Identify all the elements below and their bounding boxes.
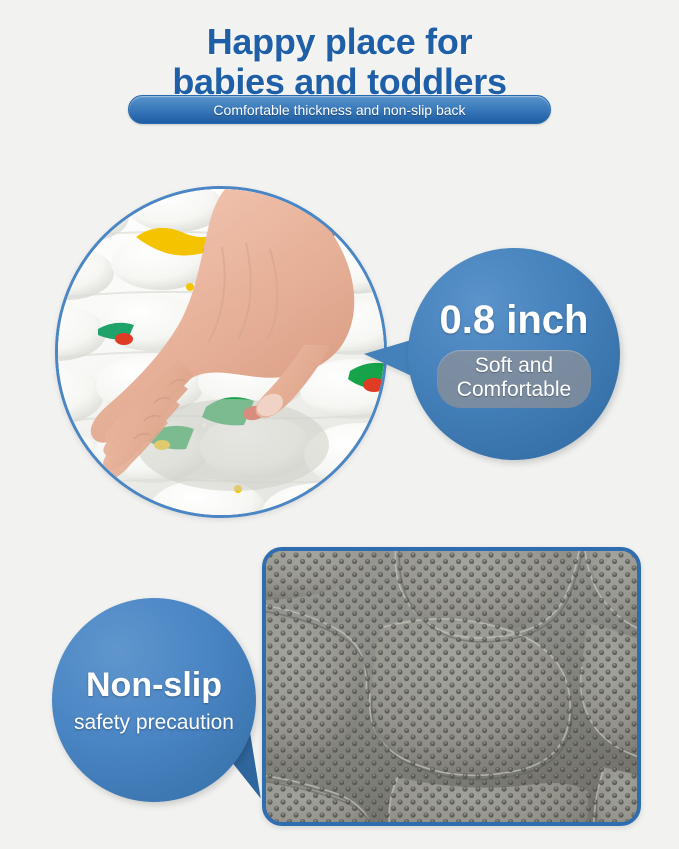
nonslip-callout-content: Non-slip safety precaution	[52, 598, 256, 802]
hand-pressing-quilted-mattress-photo	[55, 186, 387, 518]
thickness-callout: 0.8 inch Soft and Comfortable	[360, 248, 620, 498]
nonslip-title: Non-slip	[86, 668, 222, 702]
thickness-badge-line-2: Comfortable	[457, 378, 571, 402]
page-title-line-1: Happy place for	[0, 22, 679, 62]
infographic-page: Happy place for babies and toddlers Comf…	[0, 0, 679, 849]
header: Happy place for babies and toddlers	[0, 22, 679, 103]
thickness-badge: Soft and Comfortable	[437, 350, 591, 407]
grey-non-slip-dotted-backing-photo	[262, 547, 641, 826]
subtitle-banner: Comfortable thickness and non-slip back	[128, 95, 551, 124]
subtitle-banner-label: Comfortable thickness and non-slip back	[213, 102, 465, 118]
nonslip-subtitle: safety precaution	[74, 712, 234, 733]
page-title: Happy place for babies and toddlers	[0, 22, 679, 103]
thickness-callout-content: 0.8 inch Soft and Comfortable	[408, 248, 620, 460]
nonslip-callout: Non-slip safety precaution	[52, 598, 287, 810]
thickness-value: 0.8 inch	[440, 300, 589, 340]
thickness-badge-line-1: Soft and	[457, 354, 571, 378]
